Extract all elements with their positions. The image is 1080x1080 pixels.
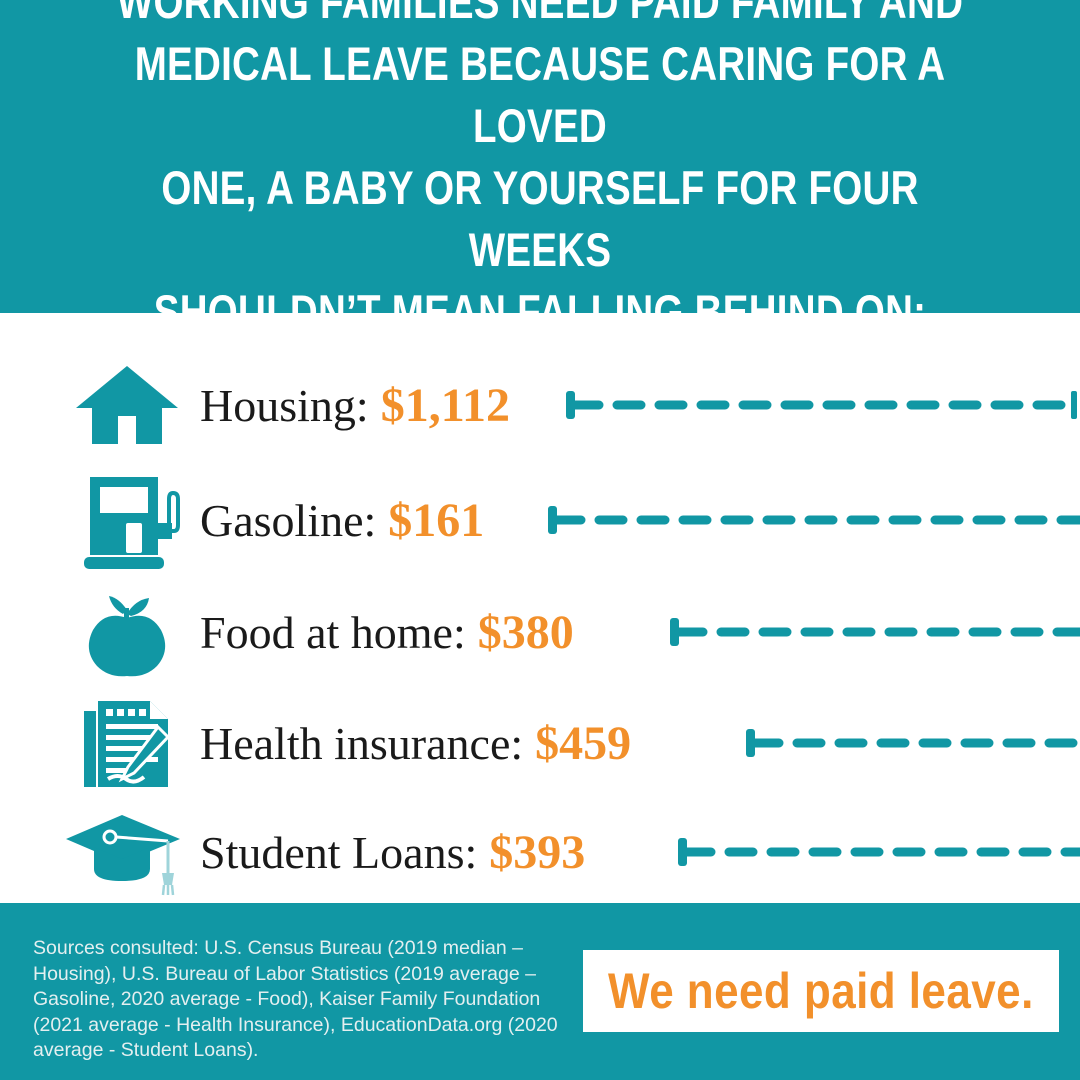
house-icon (62, 353, 192, 457)
infographic-canvas: WORKING FAMILIES NEED PAID FAMILY AND ME… (0, 0, 1080, 1080)
list-item: Student Loans: $393 (0, 800, 1080, 904)
expense-value: $1,112 (381, 378, 510, 433)
expense-text: Housing: $1,112 (200, 353, 510, 457)
gas-pump-icon (62, 468, 192, 572)
list-item: Gasoline: $161 (0, 468, 1080, 572)
document-pen-icon (62, 691, 192, 795)
header-banner: WORKING FAMILIES NEED PAID FAMILY AND ME… (0, 0, 1080, 313)
dashed-connector-line (548, 468, 1080, 572)
sources-note: Sources consulted: U.S. Census Bureau (2… (33, 936, 573, 1064)
expense-value: $459 (535, 716, 631, 771)
expense-label: Food at home: (200, 606, 466, 659)
expense-text: Student Loans: $393 (200, 800, 585, 904)
cta-text: We need paid leave. (608, 962, 1034, 1020)
dashed-connector-line (746, 691, 1080, 795)
cta-banner: We need paid leave. (583, 950, 1059, 1032)
expense-list: Housing: $1,112 (0, 313, 1080, 903)
expense-label: Student Loans: (200, 826, 477, 879)
expense-value: $161 (388, 493, 484, 548)
expense-label: Gasoline: (200, 494, 376, 547)
expense-text: Food at home: $380 (200, 580, 574, 684)
list-item: Food at home: $380 (0, 580, 1080, 684)
apple-icon (62, 580, 192, 684)
expense-label: Housing: (200, 379, 369, 432)
page-title: WORKING FAMILIES NEED PAID FAMILY AND ME… (97, 0, 983, 343)
list-item: Housing: $1,112 (0, 353, 1080, 457)
graduation-cap-icon (62, 800, 192, 904)
expense-text: Health insurance: $459 (200, 691, 631, 795)
dashed-connector-line (566, 353, 1080, 457)
list-item: Health insurance: $459 (0, 691, 1080, 795)
dashed-connector-line (670, 580, 1080, 684)
expense-value: $380 (478, 605, 574, 660)
expense-value: $393 (489, 825, 585, 880)
expense-text: Gasoline: $161 (200, 468, 484, 572)
dashed-connector-line (678, 800, 1080, 904)
expense-label: Health insurance: (200, 717, 523, 770)
